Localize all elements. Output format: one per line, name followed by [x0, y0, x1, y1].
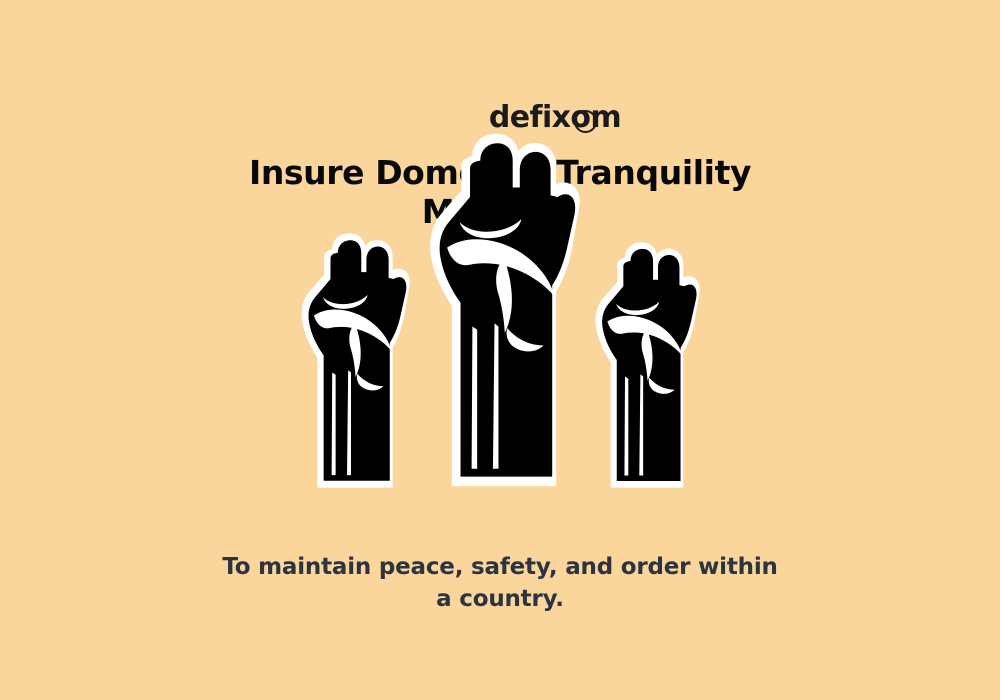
definition-caption-line-1: To maintain peace, safety, and order wit… — [0, 551, 1000, 583]
definition-caption-line-2: a country. — [0, 583, 1000, 615]
raised-fist-left-icon — [298, 230, 412, 492]
raised-fist-right-icon — [592, 239, 702, 492]
definition-caption: To maintain peace, safety, and order wit… — [0, 551, 1000, 615]
poster-canvas: defixom Insure Domestic Tranquility Mean… — [0, 0, 1000, 700]
raised-fist-center-icon — [425, 129, 583, 492]
